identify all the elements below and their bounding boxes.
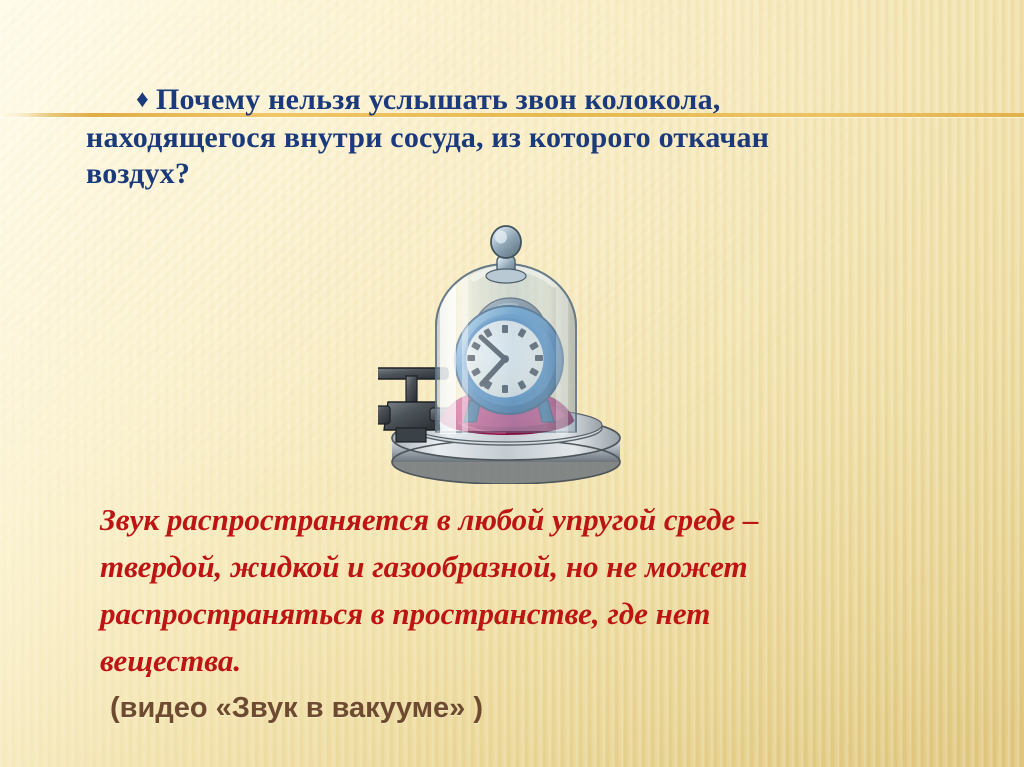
body-text-block: Звук распространяется в любой упругой ср… <box>100 496 980 730</box>
title-line-2: находящегося внутри сосуда, из которого … <box>86 120 966 156</box>
body-line-3: распространяться в пространстве, где нет <box>100 590 980 637</box>
video-reference-note: (видео «Звук в вакууме» ) <box>110 686 980 730</box>
jar-knob <box>486 226 526 283</box>
body-line-1: Звук распространяется в любой упругой ср… <box>100 496 980 543</box>
body-line-2: твердой, жидкой и газообразной, но не мо… <box>100 543 980 590</box>
title-line-3: воздух? <box>86 156 966 192</box>
diamond-bullet-icon: ♦ <box>136 86 156 113</box>
slide-title: ♦Почему нельзя услышать звон колокола, н… <box>86 82 966 192</box>
body-line-4: вещества. <box>100 637 980 684</box>
title-line-1-text: Почему нельзя услышать звон колокола, <box>156 83 721 116</box>
slide-canvas: ♦Почему нельзя услышать звон колокола, н… <box>0 0 1024 767</box>
title-line-1: ♦Почему нельзя услышать звон колокола, <box>86 82 966 120</box>
bell-jar-illustration <box>378 216 646 484</box>
